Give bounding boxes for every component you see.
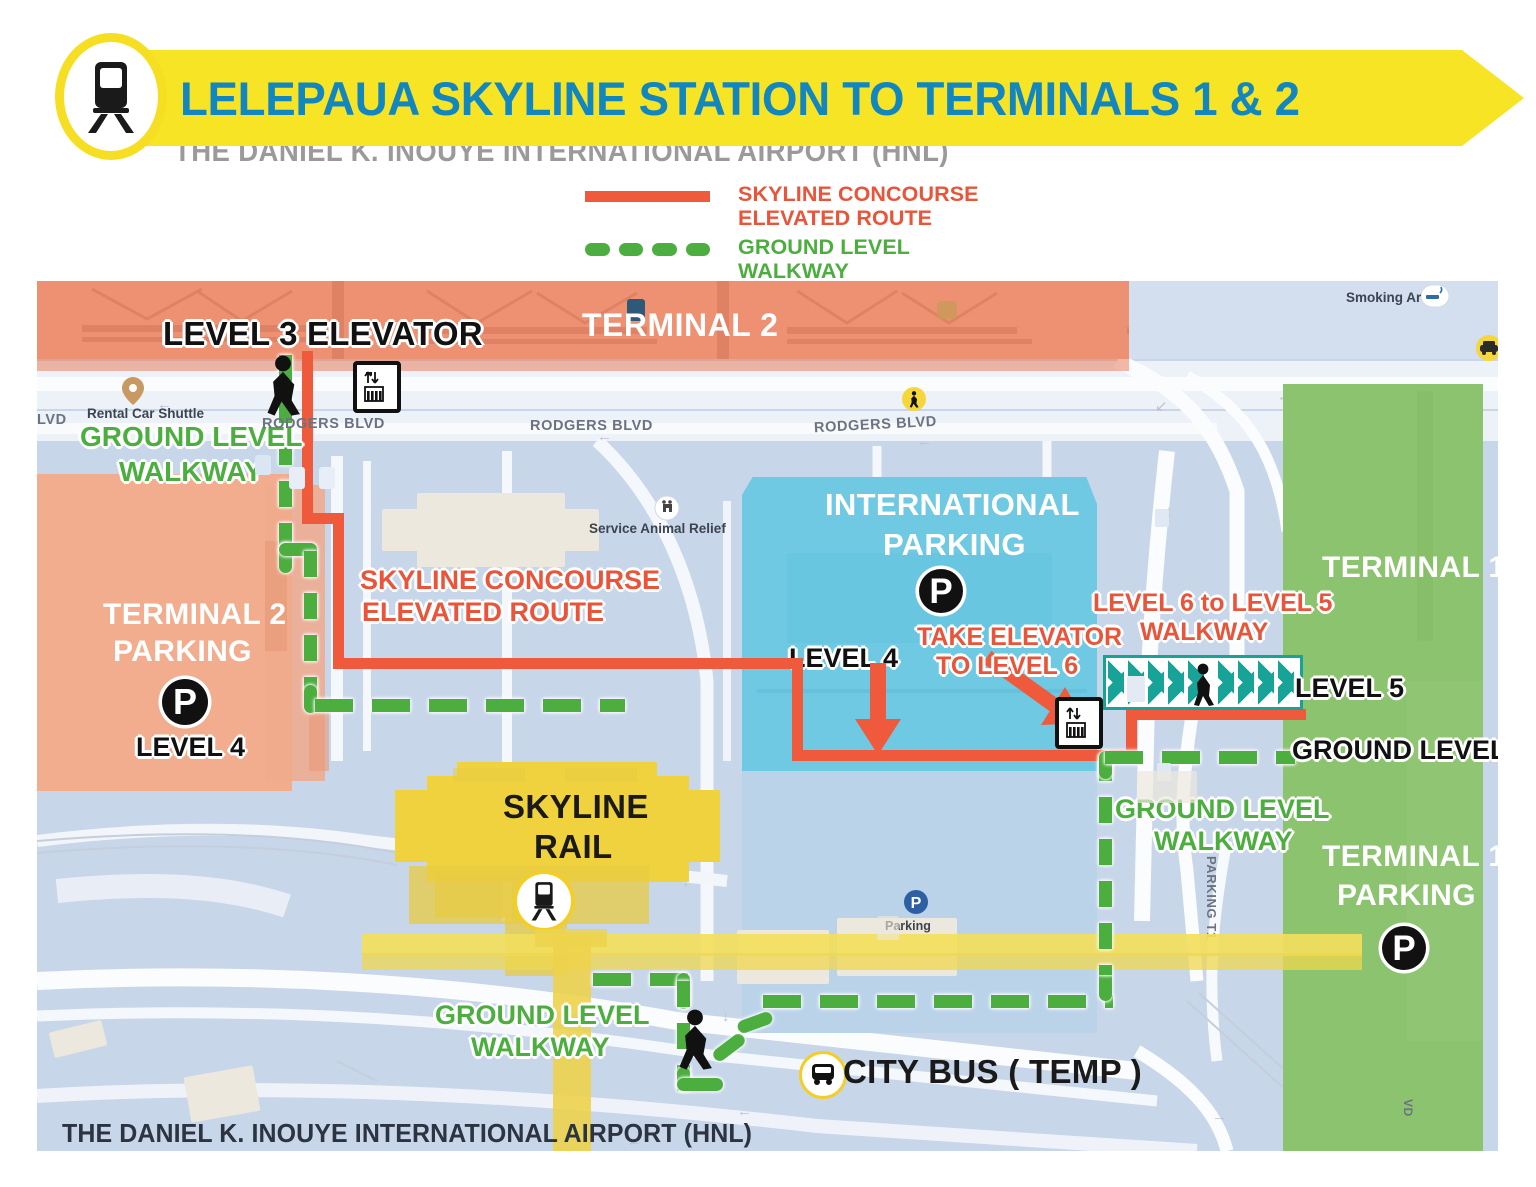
map-chip-a — [255, 455, 271, 475]
label-level-3-elevator: LEVEL 3 ELEVATOR — [163, 317, 483, 352]
label-level6-to-level5-line1: LEVEL 6 to LEVEL 5 — [1093, 590, 1332, 617]
label-level6-to-level5-line2: WALKWAY — [1140, 619, 1268, 646]
train-icon — [82, 60, 140, 134]
label-take-elevator-line1: TAKE ELEVATOR — [917, 624, 1122, 651]
skyline-rail-station-icon — [513, 870, 575, 932]
legend-swatch-dashed-line — [585, 243, 710, 256]
smoking-icon — [1421, 285, 1449, 307]
svg-text:P: P — [911, 895, 922, 912]
route-segment-orange-4 — [333, 658, 803, 669]
rental-car-shuttle-pin — [122, 377, 144, 405]
airport-map[interactable]: ←← ←← ←← ↙↓ ↓↓ ←← ↗→ ←← — [37, 281, 1498, 1151]
street-label-blvd-left: LVD — [37, 412, 67, 428]
walkway-segment-ground-level-east — [1105, 751, 1295, 764]
legend-elevated-line2: ELEVATED ROUTE — [738, 206, 979, 230]
walkway-corner-rail-c — [677, 1078, 723, 1091]
label-ground-walkway-nw-line2: WALKWAY — [119, 457, 263, 487]
street-label-blvd-bottom: VD — [1401, 1099, 1415, 1117]
street-label-parking-t1: PARKING T1 — [1204, 856, 1219, 940]
international-parking-label-line2: PARKING — [883, 529, 1026, 562]
parking-icon-terminal-2: P — [162, 679, 208, 725]
footer-caption: THE DANIEL K. INOUYE INTERNATIONAL AIRPO… — [62, 1118, 752, 1149]
walkway-segment-lei-stands — [763, 995, 1113, 1008]
skyline-concourse-node — [535, 929, 607, 947]
street-label-rodgers-1: RODGERS BLVD — [262, 416, 385, 432]
legend-item-ground-walkway: GROUND LEVEL WALKWAY — [585, 235, 910, 284]
label-ground-walkway-east-line2: WALKWAY — [1154, 827, 1293, 856]
poi-label-rental-car-shuttle: Rental Car Shuttle — [87, 406, 204, 421]
building-mid-small — [877, 916, 899, 940]
label-ground-level: GROUND LEVEL — [1292, 736, 1498, 765]
walkway-segment-central-horizontal — [315, 699, 625, 712]
label-ground-walkway-south-line1: GROUND LEVEL — [435, 1001, 650, 1030]
svg-text:→: → — [1212, 1108, 1227, 1125]
terminal-2-parking-label-line2: PARKING — [113, 636, 252, 668]
label-ground-walkway-south-line2: WALKWAY — [471, 1033, 610, 1062]
crosswalk-pedestrian-marker — [902, 387, 926, 411]
taxi-icon — [1474, 335, 1498, 361]
parking-icon-international: P — [919, 569, 963, 613]
legend-label-ground-walkway: GROUND LEVEL WALKWAY — [738, 235, 910, 284]
page-header: LELEPAUA SKYLINE STATION TO TERMINALS 1 … — [0, 0, 1536, 180]
pedestrian-icon-south — [673, 1009, 717, 1071]
skyline-rail-label-line2: RAIL — [534, 830, 613, 865]
map-chip-f — [1127, 676, 1145, 702]
service-animal-relief-icon — [654, 495, 680, 521]
terminal-2-parking-level-label: LEVEL 4 — [136, 733, 245, 762]
svg-text:←: ← — [917, 433, 932, 450]
walkway-segment-nw-vertical-2 — [304, 551, 317, 691]
poi-label-service-animal-relief: Service Animal Relief — [589, 521, 726, 536]
building-service-wing-left — [382, 509, 424, 551]
city-bus-label: CITY BUS ( TEMP ) — [843, 1055, 1142, 1090]
svg-text:↙: ↙ — [1155, 398, 1168, 415]
map-chip-c — [319, 467, 335, 489]
walkway-segment-east-vertical — [1099, 755, 1112, 975]
legend-swatch-solid-line — [585, 191, 710, 202]
building-east-small — [1137, 771, 1197, 803]
legend-label-elevated-route: SKYLINE CONCOURSE ELEVATED ROUTE — [738, 182, 979, 231]
svg-text:↓: ↓ — [722, 1008, 730, 1025]
level-4-down-arrow — [849, 663, 909, 759]
terminal-1-label: TERMINAL 1 — [1322, 552, 1498, 584]
route-segment-orange-9 — [1295, 709, 1306, 717]
route-segment-orange-8 — [1126, 709, 1306, 720]
terminal-1-detail-a — [1417, 391, 1433, 641]
pedestrian-icon-bridge — [1188, 663, 1218, 707]
terminal-2-amenity-marker — [937, 301, 957, 319]
train-badge — [55, 33, 167, 160]
parking-pin-icon: P — [903, 889, 929, 915]
international-parking-label-line1: INTERNATIONAL — [825, 489, 1080, 522]
wayfinding-map-page: LELEPAUA SKYLINE STATION TO TERMINALS 1 … — [0, 0, 1536, 1187]
terminal-1-parking-label-line2: PARKING — [1337, 880, 1476, 912]
label-level-5: LEVEL 5 — [1295, 674, 1404, 703]
legend-item-elevated-route: SKYLINE CONCOURSE ELEVATED ROUTE — [585, 182, 979, 231]
skyline-rail-label-line1: SKYLINE — [503, 790, 649, 825]
building-service-center — [417, 493, 565, 567]
pedestrian-icon-north — [261, 355, 305, 417]
label-take-elevator-line2: TO LEVEL 6 — [936, 653, 1078, 680]
legend: SKYLINE CONCOURSE ELEVATED ROUTE GROUND … — [585, 182, 1105, 272]
skyline-concourse-structure-lower — [362, 953, 1362, 970]
bus-icon-city-bus — [799, 1051, 847, 1099]
map-chip-d — [1155, 509, 1169, 527]
terminal-1-parking-label-line1: TERMINAL 1 — [1322, 841, 1498, 873]
title-banner: LELEPAUA SKYLINE STATION TO TERMINALS 1 … — [96, 50, 1524, 146]
page-title: LELEPAUA SKYLINE STATION TO TERMINALS 1 … — [180, 71, 1300, 126]
label-skyline-concourse-line1: SKYLINE CONCOURSE — [360, 566, 660, 595]
route-segment-orange-6 — [792, 750, 1137, 761]
legend-ground-line1: GROUND LEVEL — [738, 235, 910, 259]
parking-icon-glyph-intl: P — [929, 574, 952, 609]
walkway-corner-lei-east — [1099, 971, 1112, 1001]
route-segment-orange-3 — [333, 513, 344, 668]
street-label-rodgers-2: RODGERS BLVD — [530, 418, 653, 434]
train-icon-station — [526, 881, 562, 921]
parking-icon-glyph-t1: P — [1392, 931, 1415, 966]
parking-icon-glyph: P — [173, 684, 197, 720]
label-skyline-concourse-line2: ELEVATED ROUTE — [362, 598, 604, 627]
elevator-icon-level-6 — [1055, 697, 1103, 749]
terminal-2-parking-label-line1: TERMINAL 2 — [103, 599, 286, 631]
map-chip-b — [289, 467, 305, 489]
terminal-2-label: TERMINAL 2 — [582, 309, 778, 343]
route-segment-orange-5 — [792, 658, 803, 761]
parking-icon-terminal-1: P — [1382, 926, 1426, 970]
legend-ground-line2: WALKWAY — [738, 259, 910, 283]
elevator-icon-level-3 — [353, 361, 401, 413]
legend-elevated-line1: SKYLINE CONCOURSE — [738, 182, 979, 206]
